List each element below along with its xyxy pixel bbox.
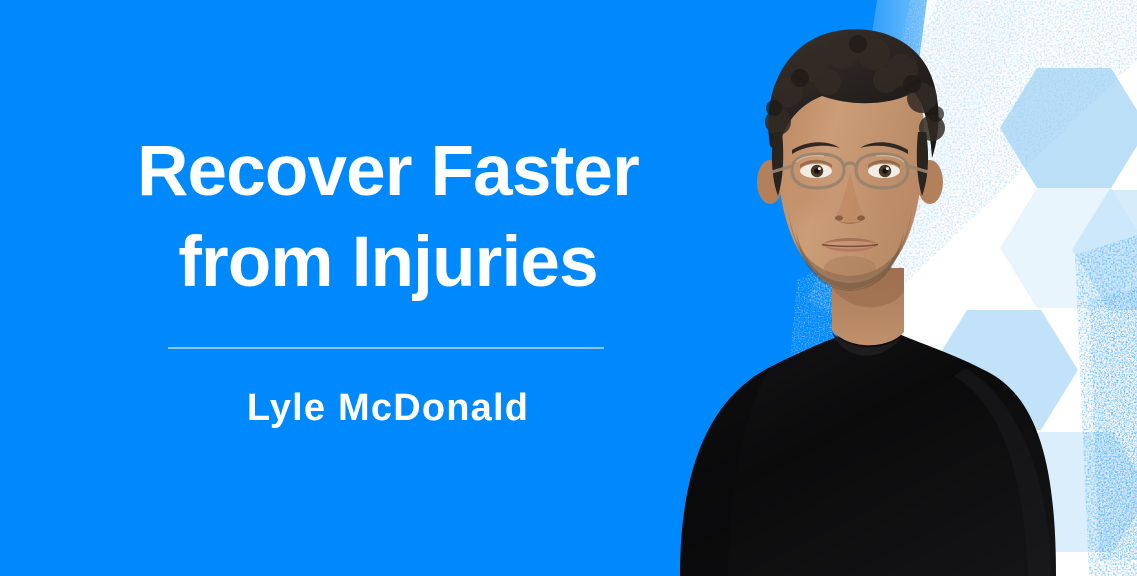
divider-rule [168,347,604,349]
page-title: Recover Faster from Injuries [0,126,776,308]
headline-line-1: Recover Faster [0,126,776,217]
headline-line-2: from Injuries [0,217,776,308]
promo-banner: Recover Faster from Injuries Lyle McDona… [0,0,1137,576]
speaker-name: Lyle McDonald [0,385,776,431]
head [757,29,945,291]
text-content: Recover Faster from Injuries Lyle McDona… [0,0,776,576]
